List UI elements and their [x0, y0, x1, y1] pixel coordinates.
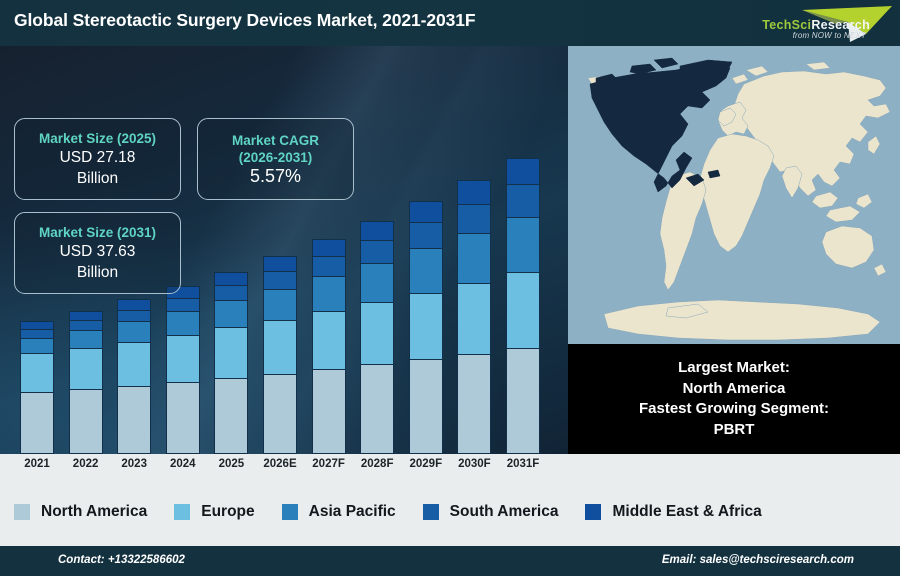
legend-swatch-icon: [423, 504, 439, 520]
page-title: Global Stereotactic Surgery Devices Mark…: [14, 10, 476, 31]
bar-segment-north-america: [166, 382, 200, 454]
bar-2026E: [263, 256, 297, 454]
card-title: Market Size (2031): [39, 224, 156, 241]
legend-label: Middle East & Africa: [612, 503, 761, 521]
legend-item-europe[interactable]: Europe: [174, 503, 254, 521]
chart-legend: North AmericaEuropeAsia PacificSouth Ame…: [0, 480, 900, 544]
largest-market-value: North America: [683, 379, 786, 400]
bar-2023: [117, 299, 151, 454]
bar-segment-south-america: [117, 310, 151, 321]
bar-segment-asia-pacific: [506, 217, 540, 273]
bar-segment-asia-pacific: [360, 263, 394, 303]
bar-segment-asia-pacific: [312, 276, 346, 311]
legend-swatch-icon: [282, 504, 298, 520]
bar-segment-europe: [166, 335, 200, 382]
fastest-segment-value: PBRT: [714, 420, 755, 441]
bar-segment-middle-east-africa: [117, 299, 151, 309]
card-value-line1: USD 37.63: [60, 241, 136, 262]
card-title: Market CAGR: [232, 132, 319, 149]
card-value-line1: USD 27.18: [60, 147, 136, 168]
bar-segment-asia-pacific: [69, 330, 103, 348]
key-facts-box: Largest Market: North America Fastest Gr…: [568, 344, 900, 454]
techsci-logo: TechSciResearch from NOW to NEXT: [712, 2, 892, 44]
footer-contact: Contact: +13322586602: [58, 554, 185, 566]
bar-segment-middle-east-africa: [20, 321, 54, 329]
bar-segment-north-america: [457, 354, 491, 454]
fastest-segment-label: Fastest Growing Segment:: [639, 399, 829, 420]
bar-segment-middle-east-africa: [360, 221, 394, 240]
bar-segment-middle-east-africa: [214, 272, 248, 285]
bar-segment-asia-pacific: [20, 338, 54, 354]
bar-segment-europe: [360, 302, 394, 364]
bar-segment-north-america: [214, 378, 248, 454]
bar-segment-south-america: [506, 184, 540, 217]
bar-segment-north-america: [263, 374, 297, 454]
axis-label-2025: 2025: [204, 458, 258, 470]
bar-segment-north-america: [20, 392, 54, 454]
world-map-svg: [568, 46, 900, 344]
bar-2028F: [360, 221, 394, 454]
legend-swatch-icon: [14, 504, 30, 520]
axis-label-2021: 2021: [10, 458, 64, 470]
bar-2025: [214, 272, 248, 454]
bar-segment-south-america: [214, 285, 248, 300]
legend-label: Europe: [201, 503, 254, 521]
logo-tagline: from NOW to NEXT: [793, 31, 866, 40]
bar-segment-north-america: [360, 364, 394, 454]
footer-bar: Contact: +13322586602 Email: sales@techs…: [0, 546, 900, 576]
bar-segment-middle-east-africa: [312, 239, 346, 256]
bar-segment-middle-east-africa: [69, 311, 103, 320]
bar-segment-europe: [117, 342, 151, 386]
legend-item-asia-pacific[interactable]: Asia Pacific: [282, 503, 396, 521]
bar-segment-south-america: [20, 329, 54, 338]
bar-segment-europe: [506, 272, 540, 348]
bar-segment-europe: [312, 311, 346, 369]
bar-segment-europe: [409, 293, 443, 359]
bar-segment-middle-east-africa: [263, 256, 297, 271]
bar-2024: [166, 286, 200, 454]
card-value-line2: Billion: [77, 168, 118, 189]
legend-label: Asia Pacific: [309, 503, 396, 521]
card-value: 5.57%: [250, 166, 301, 187]
card-subtitle: (2026-2031): [239, 149, 313, 166]
bar-segment-north-america: [69, 389, 103, 454]
legend-item-south-america[interactable]: South America: [423, 503, 559, 521]
bar-segment-asia-pacific: [409, 248, 443, 293]
bar-segment-middle-east-africa: [506, 158, 540, 184]
logo-name-research: Research: [811, 18, 870, 32]
legend-label: South America: [450, 503, 559, 521]
logo-name-techsci: TechSci: [762, 18, 811, 32]
axis-label-2026E: 2026E: [253, 458, 307, 470]
chart-panel: Market Size (2025) USD 27.18 Billion Mar…: [0, 46, 568, 454]
bar-segment-asia-pacific: [214, 300, 248, 327]
bar-segment-south-america: [69, 320, 103, 330]
bar-2027F: [312, 239, 346, 454]
bar-segment-north-america: [409, 359, 443, 454]
bar-segment-asia-pacific: [263, 289, 297, 320]
bar-segment-europe: [263, 320, 297, 374]
footer-email: Email: sales@techsciresearch.com: [662, 554, 854, 566]
bar-segment-south-america: [457, 204, 491, 233]
axis-label-2024: 2024: [156, 458, 210, 470]
axis-label-2027F: 2027F: [302, 458, 356, 470]
axis-label-2028F: 2028F: [350, 458, 404, 470]
largest-market-label: Largest Market:: [678, 358, 790, 379]
bar-segment-north-america: [506, 348, 540, 454]
bar-segment-south-america: [166, 298, 200, 311]
header-bar: Global Stereotactic Surgery Devices Mark…: [0, 0, 900, 46]
logo-wordmark: TechSciResearch: [762, 18, 870, 32]
card-title: Market Size (2025): [39, 130, 156, 147]
bar-segment-north-america: [117, 386, 151, 454]
legend-swatch-icon: [585, 504, 601, 520]
bar-segment-asia-pacific: [457, 233, 491, 283]
stat-card-market-size-2031: Market Size (2031) USD 37.63 Billion: [14, 212, 181, 294]
axis-label-2022: 2022: [59, 458, 113, 470]
stat-card-market-cagr: Market CAGR (2026-2031) 5.57%: [197, 118, 354, 200]
axis-label-2030F: 2030F: [447, 458, 501, 470]
legend-label: North America: [41, 503, 147, 521]
bar-2022: [69, 311, 103, 454]
infographic-page: Global Stereotactic Surgery Devices Mark…: [0, 0, 900, 576]
bar-segment-south-america: [360, 240, 394, 263]
axis-label-2029F: 2029F: [399, 458, 453, 470]
legend-item-middle-east-africa[interactable]: Middle East & Africa: [585, 503, 761, 521]
bar-segment-europe: [214, 327, 248, 378]
bar-segment-south-america: [263, 271, 297, 289]
axis-label-2031F: 2031F: [496, 458, 550, 470]
bar-2030F: [457, 180, 491, 454]
bar-2029F: [409, 201, 443, 454]
bar-segment-middle-east-africa: [457, 180, 491, 204]
bar-segment-europe: [457, 283, 491, 354]
bar-segment-europe: [69, 348, 103, 389]
bar-segment-south-america: [312, 256, 346, 276]
legend-swatch-icon: [174, 504, 190, 520]
axis-label-2023: 2023: [107, 458, 161, 470]
bar-2021: [20, 321, 54, 454]
bar-2031F: [506, 158, 540, 454]
bar-segment-south-america: [409, 222, 443, 248]
bar-segment-europe: [20, 353, 54, 392]
bar-segment-middle-east-africa: [409, 201, 443, 222]
bar-segment-north-america: [312, 369, 346, 454]
world-map: [568, 46, 900, 344]
chart-x-axis: 202120222023202420252026E2027F2028F2029F…: [0, 454, 568, 480]
stat-card-market-size-2025: Market Size (2025) USD 27.18 Billion: [14, 118, 181, 200]
card-value-line2: Billion: [77, 262, 118, 283]
bar-segment-asia-pacific: [117, 321, 151, 342]
bar-segment-asia-pacific: [166, 311, 200, 335]
legend-item-north-america[interactable]: North America: [14, 503, 147, 521]
